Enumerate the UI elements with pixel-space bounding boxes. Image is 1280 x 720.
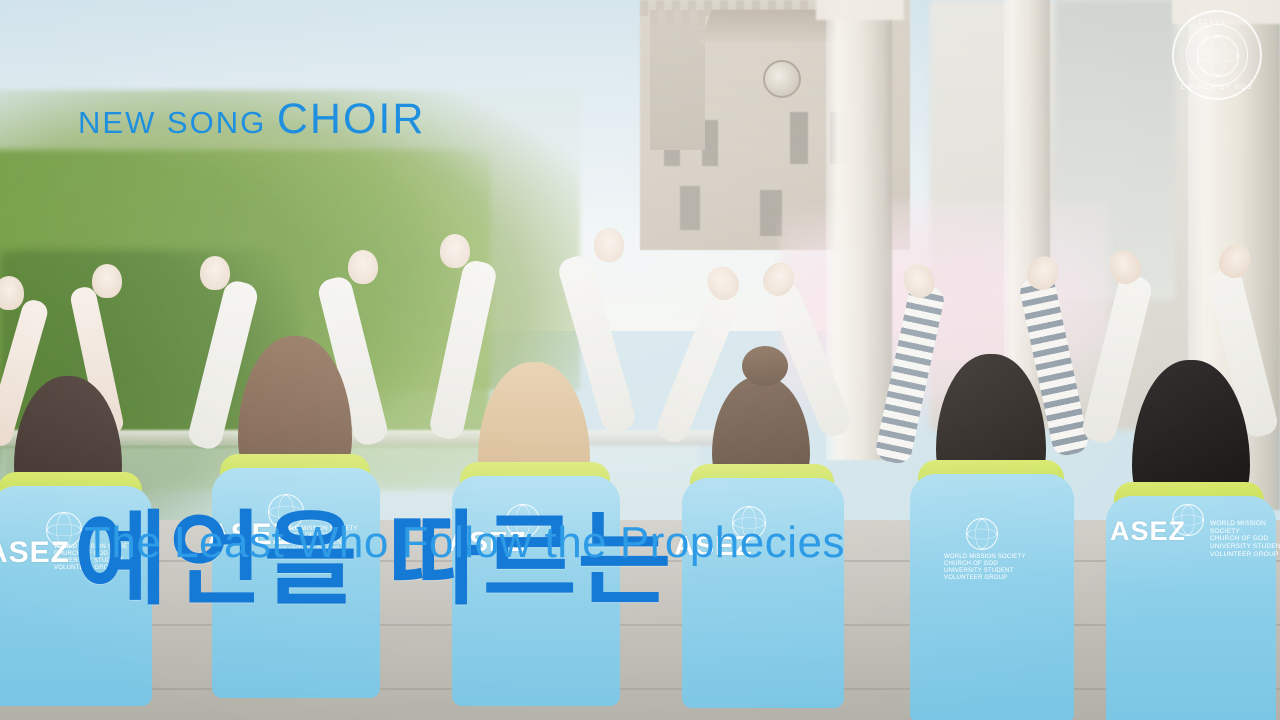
title-korean: 예언을 따르는 작은 자 [74, 198, 672, 720]
kicker-part1: NEW SONG [78, 105, 277, 140]
vest-subtext-line: CHURCH OF GOD [944, 561, 1026, 568]
person-4: ASEZ [660, 250, 870, 720]
kicker-part2: CHOIR [277, 95, 426, 143]
clock-face [763, 60, 801, 98]
person-5: WORLD MISSION SOCIETY CHURCH OF GOD UNIV… [880, 236, 1100, 720]
hair-bun [742, 346, 788, 386]
vest-subtext-line: WORLD MISSION SOCIETY [1210, 520, 1280, 535]
tower-crenellations [650, 10, 705, 26]
vest-subtext: WORLD MISSION SOCIETY CHURCH OF GOD UNIV… [1210, 520, 1280, 558]
building-window [680, 186, 700, 230]
seal-text-top: CLASSIC [1174, 20, 1260, 26]
vest-subtext-line: UNIVERSITY STUDENT [944, 568, 1026, 575]
vest-brand-text: ASEZ [1110, 518, 1186, 545]
building-window [760, 190, 782, 236]
building-window [790, 112, 808, 164]
person-6: ASEZ WORLD MISSION SOCIETY CHURCH OF GOD… [1080, 248, 1280, 720]
asez-vest [910, 474, 1074, 720]
vest-subtext-line: UNIVERSITY STUDENT [1210, 543, 1280, 551]
seal-text-bottom: CHURCH OF GOD [1174, 85, 1260, 91]
column-capital [816, 0, 904, 20]
building-tower [650, 10, 705, 150]
globe-icon [966, 518, 998, 550]
vest-subtext: WORLD MISSION SOCIETY CHURCH OF GOD UNIV… [944, 554, 1026, 582]
hand [0, 276, 24, 310]
kicker-text: NEW SONG CHOIR [78, 95, 425, 144]
vest-subtext-line: VOLUNTEER GROUP [1210, 551, 1280, 559]
church-seal-watermark: CLASSIC CHURCH OF GOD [1172, 10, 1262, 100]
image-canvas: ASEZ WORLD MISSION SOCIETY CHURCH OF GOD… [0, 0, 1280, 720]
vest-subtext-line: CHURCH OF GOD [1210, 535, 1280, 543]
vest-subtext-line: VOLUNTEER GROUP [944, 575, 1026, 582]
subtitle-english: The Least Who Follow the Prophecies [84, 518, 845, 568]
vest-subtext-line: WORLD MISSION SOCIETY [944, 554, 1026, 561]
globe-icon [1197, 35, 1239, 77]
